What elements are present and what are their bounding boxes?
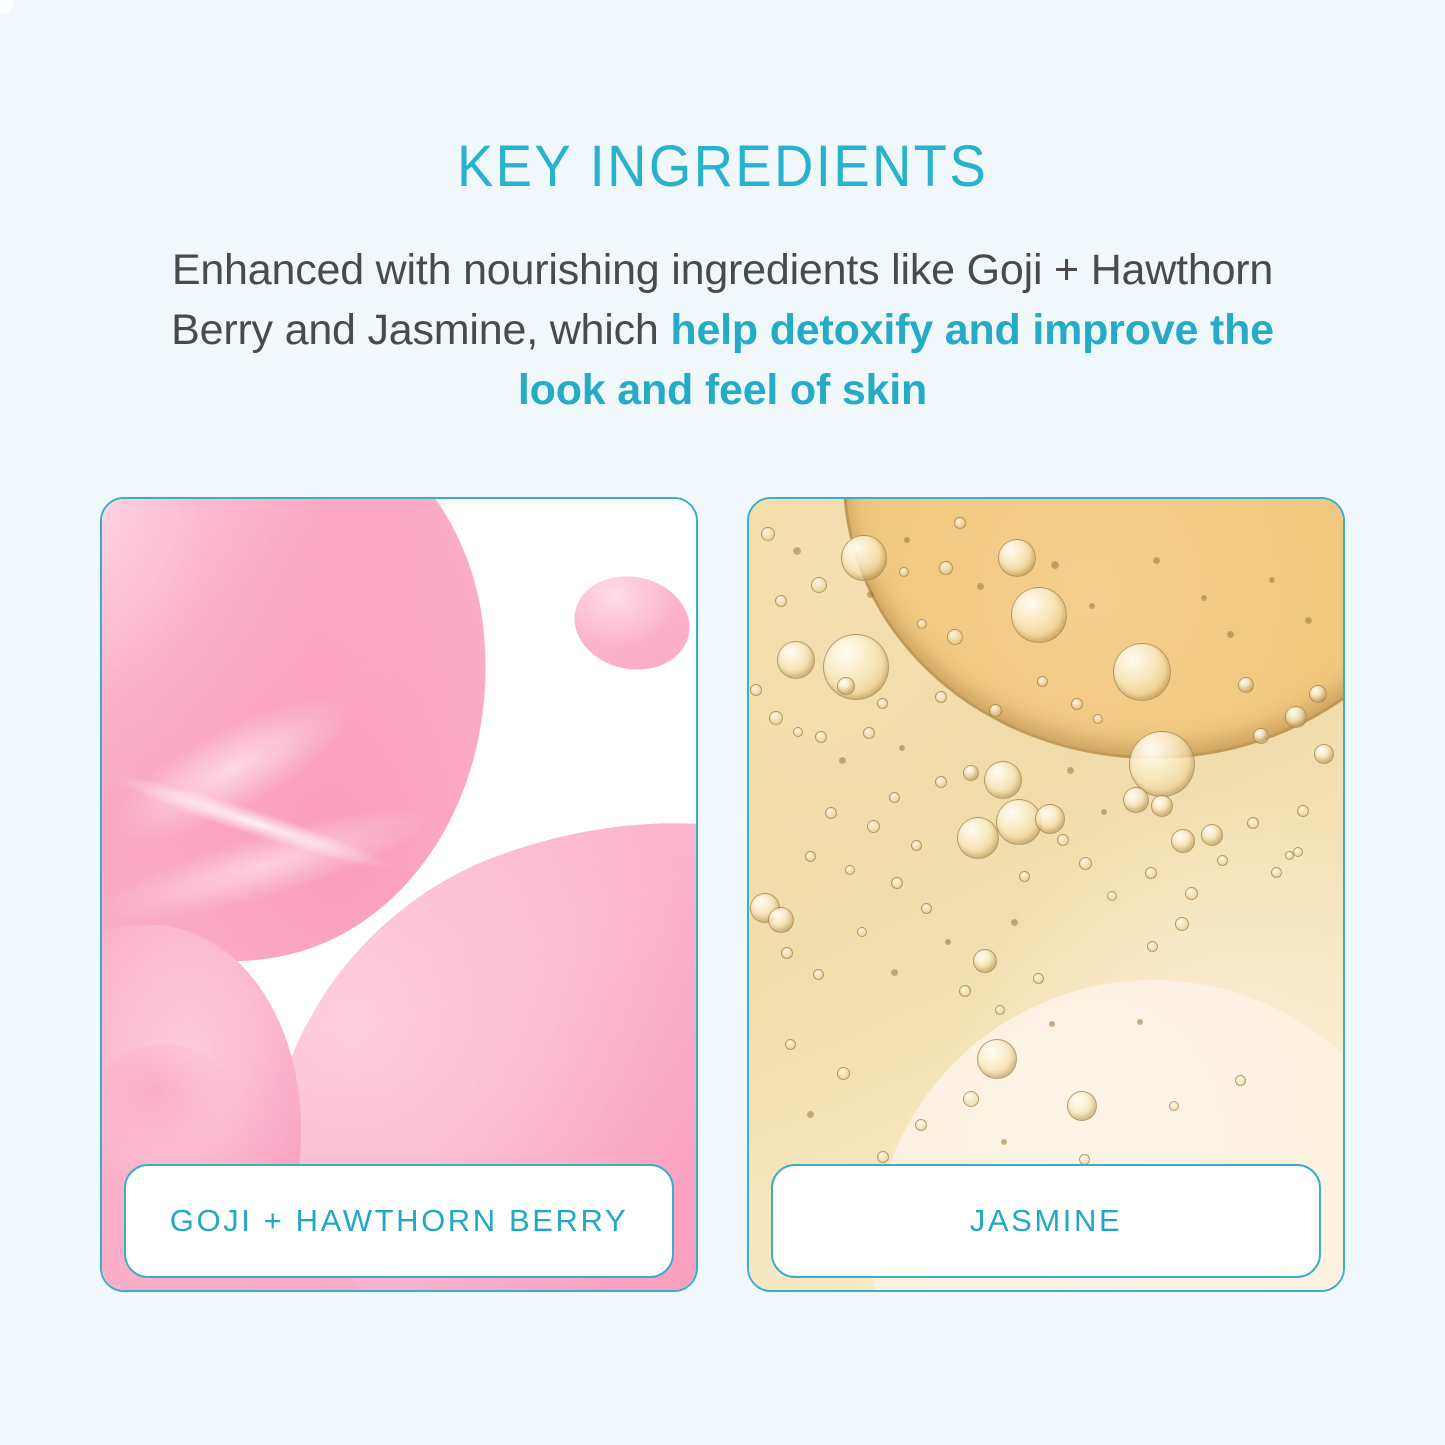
bubble-speck xyxy=(867,591,874,598)
bubble xyxy=(1033,973,1044,984)
bubble xyxy=(899,567,909,577)
page-title: KEY INGREDIENTS xyxy=(43,138,1401,196)
bubble xyxy=(921,903,932,914)
bubble xyxy=(1037,676,1048,687)
bubble xyxy=(1238,677,1254,693)
ingredient-label-plate-goji: GOJI + HAWTHORN BERRY xyxy=(124,1164,674,1278)
bubble-speck xyxy=(891,969,898,976)
bubble xyxy=(768,907,794,933)
bubble-speck xyxy=(899,745,905,751)
bubble xyxy=(877,1151,889,1163)
bubble xyxy=(939,561,953,575)
bubble xyxy=(977,1039,1017,1079)
bubble xyxy=(1201,824,1223,846)
bubble xyxy=(911,840,922,851)
bubble xyxy=(1151,795,1173,817)
bubble xyxy=(815,731,827,743)
bubble-speck xyxy=(839,757,846,764)
bubble-speck xyxy=(1011,919,1018,926)
bubble xyxy=(841,535,887,581)
bubble xyxy=(1145,867,1157,879)
bubble-speck xyxy=(1001,1139,1007,1145)
bubble xyxy=(1093,714,1103,724)
bubble-speck xyxy=(977,583,984,590)
bubble-speck xyxy=(1227,631,1234,638)
bubble xyxy=(775,595,787,607)
bubble xyxy=(1171,829,1195,853)
ingredient-label-plate-jasmine: JASMINE xyxy=(771,1164,1321,1278)
bubble xyxy=(1019,871,1030,882)
ingredient-card-goji-hawthorn-berry[interactable]: GOJI + HAWTHORN BERRY xyxy=(100,497,698,1292)
bubble xyxy=(1123,787,1149,813)
bubble xyxy=(1011,587,1067,643)
bubble-speck xyxy=(793,547,801,555)
bubble xyxy=(963,765,979,781)
bubble xyxy=(823,634,889,700)
bubble xyxy=(761,527,775,541)
bubble xyxy=(785,1039,796,1050)
bubble xyxy=(863,727,875,739)
bubble xyxy=(1314,744,1334,764)
ingredient-cards: GOJI + HAWTHORN BERRY xyxy=(100,497,1345,1292)
bubble xyxy=(1169,1101,1179,1111)
bubble xyxy=(811,577,827,593)
bubble xyxy=(793,727,803,737)
bubble-speck xyxy=(1153,557,1160,564)
bubble xyxy=(1297,805,1309,817)
bubble-speck xyxy=(1089,603,1095,609)
bubble-speck xyxy=(1067,767,1074,774)
bubble-speck xyxy=(1305,617,1312,624)
bubble xyxy=(995,1005,1005,1015)
bubble xyxy=(989,704,1002,717)
bubble xyxy=(1285,706,1307,728)
bubble xyxy=(935,776,947,788)
subtitle: Enhanced with nourishing ingredients lik… xyxy=(163,240,1283,420)
bubble xyxy=(845,865,855,875)
header: KEY INGREDIENTS xyxy=(0,138,1445,196)
bubble xyxy=(769,711,783,725)
bubble-speck xyxy=(945,939,951,945)
bubble xyxy=(1235,1075,1246,1086)
bubble xyxy=(957,817,999,859)
bubble xyxy=(1285,851,1294,860)
corner-notch xyxy=(0,0,14,14)
bubble xyxy=(1271,867,1282,878)
bubble xyxy=(777,641,815,679)
bubble xyxy=(959,985,971,997)
bubble xyxy=(973,949,997,973)
bubble xyxy=(1113,643,1171,701)
bubble xyxy=(1147,941,1158,952)
bubble xyxy=(963,1091,979,1107)
bubble xyxy=(984,761,1022,799)
bubble-speck xyxy=(1101,809,1107,815)
pink-blob-small xyxy=(566,566,696,680)
bubble xyxy=(917,619,927,629)
ingredient-card-jasmine[interactable]: JASMINE xyxy=(747,497,1345,1292)
bubble-speck xyxy=(904,537,910,543)
bubble xyxy=(1079,857,1092,870)
bubble xyxy=(935,691,947,703)
ingredient-label-goji: GOJI + HAWTHORN BERRY xyxy=(170,1203,629,1239)
bubble xyxy=(1253,728,1269,744)
bubble-speck xyxy=(807,1111,814,1118)
bubble-speck xyxy=(1201,595,1207,601)
bubble xyxy=(825,807,837,819)
bubble xyxy=(947,629,963,645)
bubble xyxy=(1107,891,1117,901)
bubble xyxy=(877,698,888,709)
bubble xyxy=(805,851,816,862)
bubble xyxy=(954,517,966,529)
bubble xyxy=(837,1067,850,1080)
bubble xyxy=(915,1119,927,1131)
bubble xyxy=(1067,1091,1097,1121)
bubble xyxy=(1057,834,1069,846)
bubble xyxy=(867,820,880,833)
bubble-speck xyxy=(1137,1019,1143,1025)
bubble xyxy=(998,539,1036,577)
bubble xyxy=(1247,817,1259,829)
bubble xyxy=(1309,685,1327,703)
bubble xyxy=(889,792,900,803)
bubble xyxy=(781,947,793,959)
bubble xyxy=(1035,804,1065,834)
bubble-speck xyxy=(1049,1021,1055,1027)
bubble xyxy=(750,684,762,696)
bubble xyxy=(837,677,855,695)
bubble xyxy=(1293,847,1303,857)
bubble xyxy=(1175,917,1189,931)
bubble xyxy=(891,877,903,889)
bubble-speck xyxy=(1269,577,1275,583)
bubble-speck xyxy=(1051,561,1059,569)
bubble xyxy=(1071,698,1083,710)
bubble xyxy=(1185,887,1198,900)
bubble xyxy=(857,927,867,937)
bubble xyxy=(813,969,824,980)
bubble xyxy=(1217,855,1228,866)
ingredient-label-jasmine: JASMINE xyxy=(970,1203,1123,1239)
